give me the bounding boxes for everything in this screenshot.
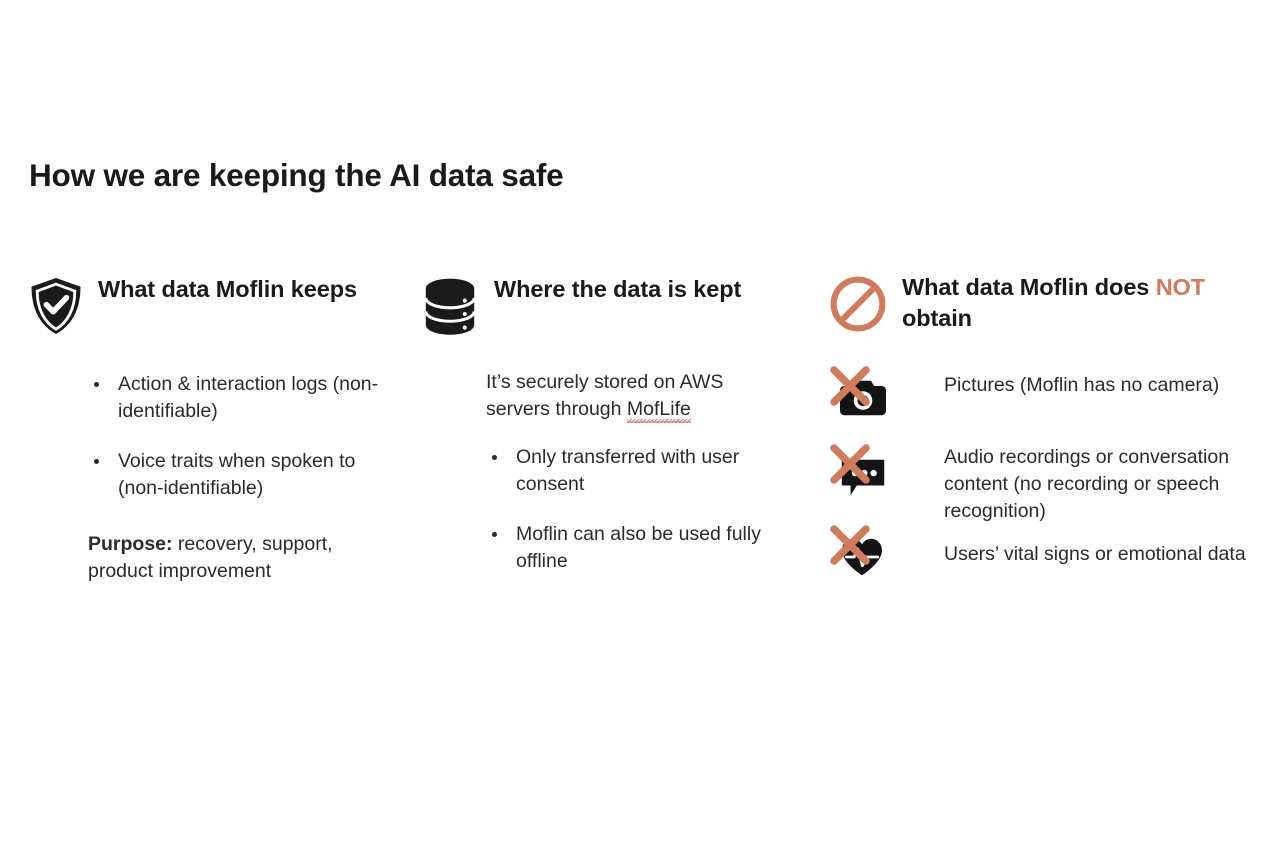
purpose-label: Purpose: [88,533,173,555]
list-item: Audio recordings or conversation content… [828,436,1248,525]
column-2-intro: It’s securely stored on AWS servers thro… [486,369,784,423]
heart-pulse-icon-group [828,523,944,587]
list-item: Moflin can also be used fully offline [486,521,784,575]
column-1-body: Action & interaction logs (non-identifia… [28,336,398,584]
column-1-bullet-list: Action & interaction logs (non-identifia… [88,371,398,502]
purpose-line: Purpose: recovery, support, product impr… [88,531,398,585]
column-3-heading-after: obtain [902,305,972,331]
page-title: How we are keeping the AI data safe [29,157,564,193]
list-item: Users’ vital signs or emotional data [828,523,1248,587]
column-1-heading: What data Moflin keeps [98,272,357,305]
column-2-header: Where the data is kept [424,272,784,336]
column-where-the-data-is-kept: Where the data is kept It’s securely sto… [424,272,784,574]
column-what-data-moflin-does-not-obtain: What data Moflin does NOT obtain [828,272,1248,587]
column-2-bullet-list: Only transferred with user consent Mofli… [486,444,784,575]
list-item: Pictures (Moflin has no camera) [828,364,1248,428]
column-1-header: What data Moflin keeps [28,272,398,336]
column-3-heading: What data Moflin does NOT obtain [902,272,1248,333]
database-icon [424,276,480,336]
speech-bubble-icon-group [828,436,944,500]
slide-canvas: How we are keeping the AI data safe What… [0,0,1280,853]
list-item-label: Users’ vital signs or emotional data [944,523,1248,568]
column-2-heading: Where the data is kept [494,272,741,305]
column-3-heading-accent: NOT [1156,274,1205,300]
x-mark-icon [828,523,872,567]
list-item: Voice traits when spoken to (non-identif… [88,448,398,502]
moflife-misspelled-word: MofLife [627,398,691,420]
column-3-heading-before: What data Moflin does [902,274,1156,300]
prohibition-icon [828,274,888,334]
x-mark-icon [828,364,872,408]
list-item: Action & interaction logs (non-identifia… [88,371,398,425]
shield-check-icon [28,276,84,336]
list-item-label: Pictures (Moflin has no camera) [944,364,1248,399]
column-3-item-list: Pictures (Moflin has no camera) [828,334,1248,587]
column-3-header: What data Moflin does NOT obtain [828,272,1248,334]
column-what-data-moflin-keeps: What data Moflin keeps Action & interact… [28,272,398,584]
column-2-body: It’s securely stored on AWS servers thro… [424,336,784,574]
x-mark-icon [828,442,872,486]
list-item: Only transferred with user consent [486,444,784,498]
camera-icon-group [828,364,944,428]
list-item-label: Audio recordings or conversation content… [944,436,1248,525]
